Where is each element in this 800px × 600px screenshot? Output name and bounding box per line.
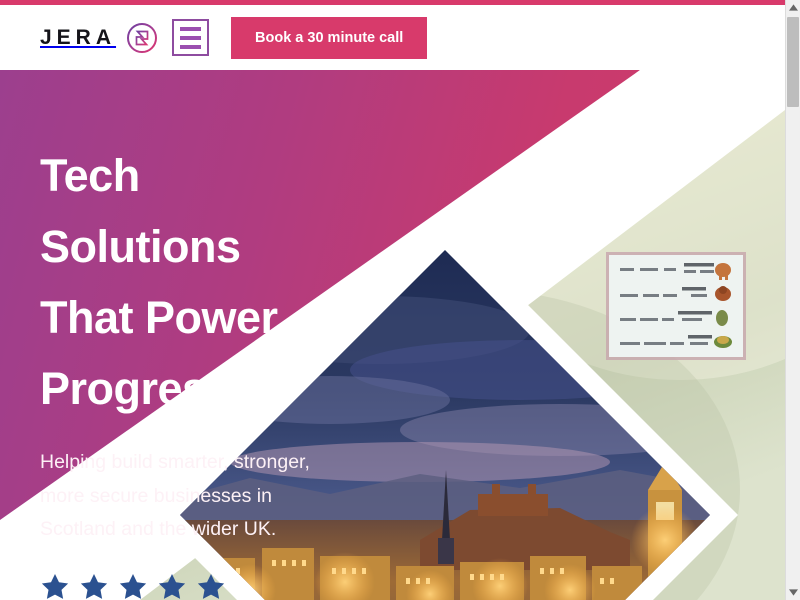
page-title: Tech Solutions That Power Progress [40,140,340,424]
book-call-button[interactable]: Book a 30 minute call [231,17,427,59]
hero-section: Tech Solutions That Power Progress Helpi… [0,70,785,600]
star-filled-icon [118,572,148,600]
browser-viewport: JERA [0,0,800,600]
brand-logo-link[interactable]: JERA [40,22,158,54]
vertical-scrollbar[interactable] [785,0,800,600]
star-filled-icon [157,572,187,600]
hamburger-bar-2 [180,36,201,40]
triangle-up-icon[interactable] [786,0,800,15]
jera-circle-s-logo-icon [126,22,158,54]
triangle-down-icon[interactable] [786,585,800,600]
headline-line-3: That Power [40,292,278,343]
web-page: JERA [0,0,785,600]
rating-stars [40,572,340,600]
hamburger-menu-icon[interactable] [172,19,209,56]
hero-copy: Tech Solutions That Power Progress Helpi… [40,140,340,600]
scrollbar-thumb[interactable] [787,17,799,107]
headline-line-1: Tech [40,150,140,201]
star-filled-icon [196,572,226,600]
star-filled-icon [79,572,109,600]
site-header: JERA [0,5,785,70]
star-filled-icon [40,572,70,600]
headline-line-2: Solutions [40,221,240,272]
hamburger-bar-3 [180,45,201,49]
headline-line-4: Progress [40,363,231,414]
hero-subheadline: Helping build smarter, stronger, more se… [40,446,340,545]
brand-wordmark: JERA [40,27,116,48]
hamburger-bar-1 [180,27,201,31]
